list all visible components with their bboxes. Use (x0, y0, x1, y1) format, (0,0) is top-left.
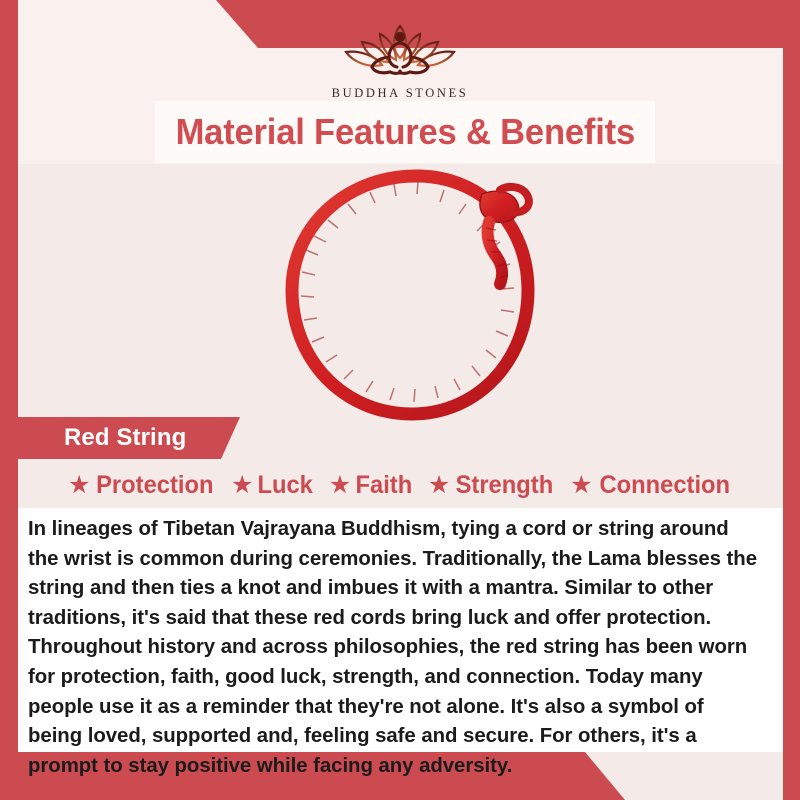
feature-strength: ★ Strength (428, 471, 556, 500)
feature-label: Luck (258, 471, 313, 500)
star-icon: ★ (570, 473, 592, 498)
page-title: Material Features & Benefits (175, 111, 634, 153)
decorative-strip-right (783, 0, 800, 800)
feature-faith: ★ Faith (329, 471, 414, 500)
brand-logo: BUDDHA STONES (0, 12, 800, 101)
description-paragraph: In lineages of Tibetan Vajrayana Buddhis… (28, 514, 760, 780)
feature-label: Connection (599, 471, 730, 500)
star-icon: ★ (329, 473, 351, 498)
features-row: ★ Protection ★ Luck ★ Faith ★ Strength ★… (18, 466, 783, 504)
feature-luck: ★ Luck (231, 471, 315, 500)
star-icon: ★ (428, 473, 450, 498)
product-name-label: Red String (18, 424, 186, 452)
infographic-page: BUDDHA STONES Material Features & Benefi… (0, 0, 800, 800)
red-braided-string-bracelet-image (246, 160, 576, 432)
star-icon: ★ (231, 473, 253, 498)
brand-name: BUDDHA STONES (332, 86, 469, 101)
title-band: Material Features & Benefits (155, 101, 655, 163)
product-name-banner: Red String (18, 417, 240, 459)
lotus-meditation-icon (324, 12, 476, 84)
feature-connection: ★ Connection (570, 471, 733, 500)
feature-label: Strength (456, 471, 554, 500)
feature-label: Protection (96, 471, 213, 500)
feature-label: Faith (356, 471, 413, 500)
description-block: In lineages of Tibetan Vajrayana Buddhis… (18, 508, 783, 752)
decorative-strip-left (0, 0, 18, 800)
feature-protection: ★ Protection (68, 471, 217, 500)
star-icon: ★ (68, 473, 90, 498)
